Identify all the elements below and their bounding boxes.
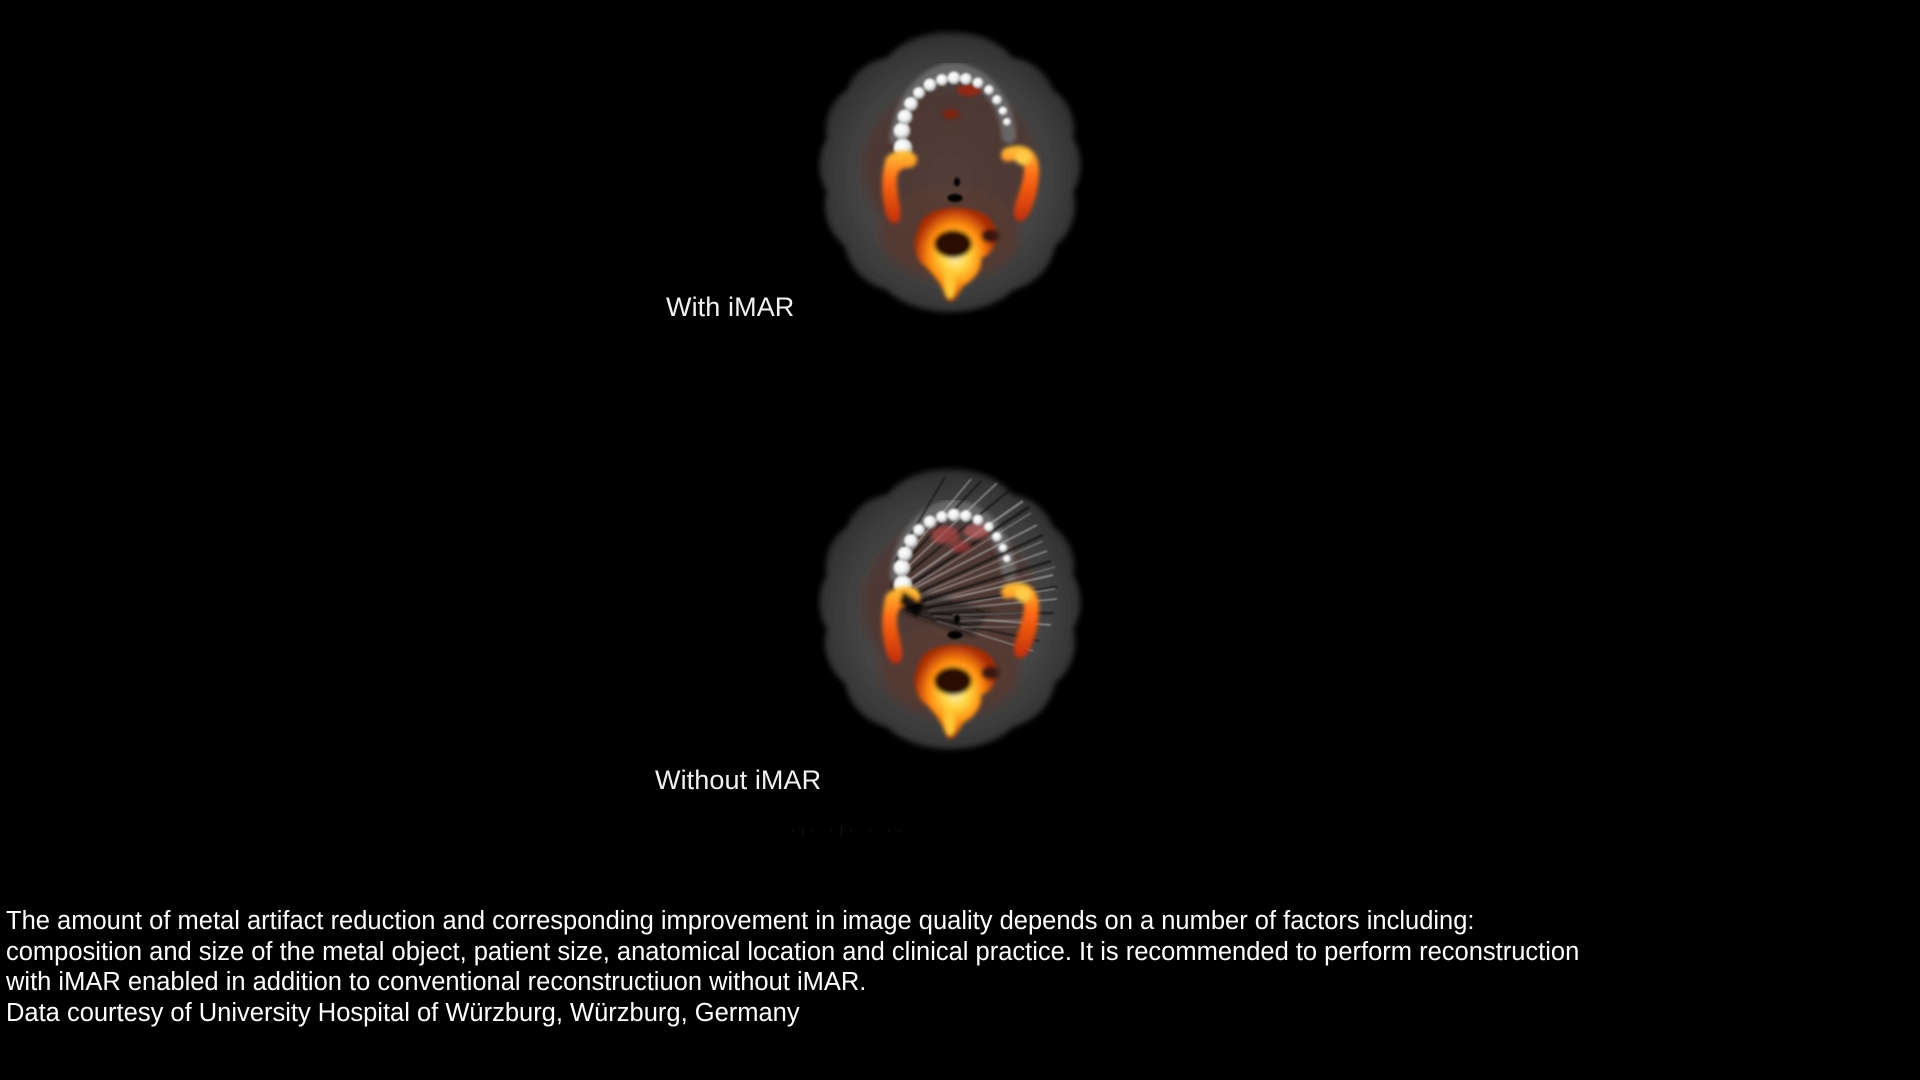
scan-panel-without-imar [785, 455, 1115, 805]
caption-line-1: The amount of metal artifact reduction a… [6, 906, 1906, 937]
slice-caption-with-imar: With iMAR [666, 294, 794, 321]
caption-line-4: Data courtesy of University Hospital of … [6, 998, 1906, 1029]
caption-line-3: with iMAR enabled in addition to convent… [6, 967, 1906, 998]
petct-fusion-image-without-imar [785, 455, 1115, 805]
caption-line-2: composition and size of the metal object… [6, 937, 1906, 968]
slice-caption-without-imar: Without iMAR [655, 767, 821, 794]
caption-block: The amount of metal artifact reduction a… [6, 906, 1906, 1028]
petct-fusion-image-with-imar [785, 18, 1115, 368]
scan-panel-with-imar [785, 18, 1115, 368]
dicom-overlay-text: ·|· ·|· · ·- [790, 826, 970, 838]
